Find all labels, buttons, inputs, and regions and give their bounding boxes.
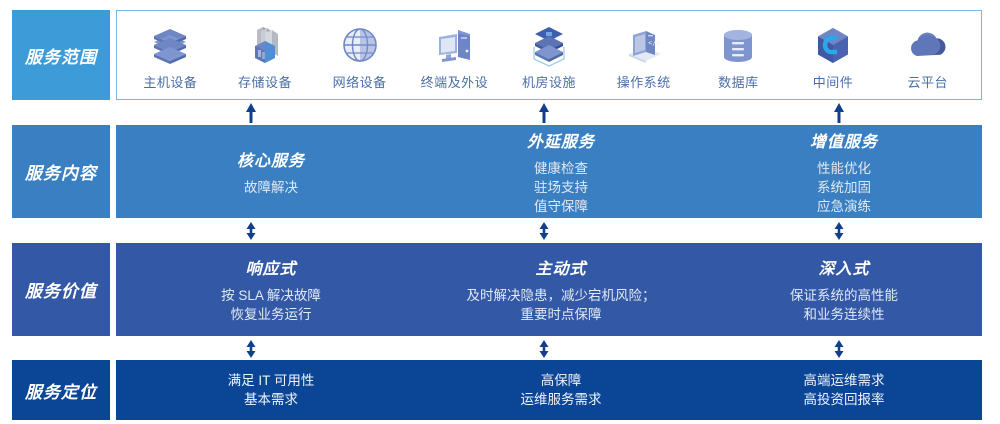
scope-item-database[interactable]: 数据库 [691, 11, 786, 99]
scope-icon-grid: 主机设备 [117, 11, 981, 99]
content-panel: 核心服务 故障解决 外延服务 健康检查 驻场支持 值守保障 增值服务 性能优化 … [116, 125, 982, 218]
position-basic-lines: 满足 IT 可用性 基本需求 [228, 371, 315, 409]
scope-item-datacenter-label: 机房设施 [522, 72, 576, 91]
service-capability-diagram: 服务范围 [0, 0, 1000, 424]
position-assurance-lines: 高保障 运维服务需求 [521, 371, 602, 409]
connector-content-to-value-2 [536, 222, 552, 240]
cloud-platform-icon [905, 23, 951, 69]
position-column-basic[interactable]: 满足 IT 可用性 基本需求 [126, 360, 416, 420]
desktop-terminal-icon [432, 23, 476, 69]
svg-text:</>: </> [648, 39, 661, 47]
row-label-position-text: 服务定位 [25, 378, 97, 403]
scope-item-datacenter[interactable]: 机房设施 [502, 11, 597, 99]
content-extended-lines: 健康检查 驻场支持 值守保障 [534, 159, 588, 216]
row-label-value: 服务价值 [12, 243, 110, 336]
value-indepth-line-2: 和业务连续性 [790, 305, 898, 324]
connector-scope-to-content-1 [243, 103, 259, 123]
position-column-highend[interactable]: 高端运维需求 高投资回报率 [706, 360, 982, 420]
scope-item-os-label: 操作系统 [617, 72, 671, 91]
value-column-indepth[interactable]: 深入式 保证系统的高性能 和业务连续性 [706, 243, 982, 336]
value-column-grid: 响应式 按 SLA 解决故障 恢复业务运行 主动式 及时解决隐患，减少宕机风险；… [116, 243, 982, 336]
content-column-core[interactable]: 核心服务 故障解决 [126, 125, 416, 218]
connector-value-to-position-2 [536, 340, 552, 358]
position-basic-line-2: 基本需求 [228, 390, 315, 409]
content-valueadd-title: 增值服务 [810, 128, 878, 152]
value-indepth-line-1: 保证系统的高性能 [790, 286, 898, 305]
content-core-line-1: 故障解决 [244, 178, 298, 197]
value-indepth-title: 深入式 [818, 255, 869, 279]
middleware-cube-icon [811, 23, 855, 69]
content-extended-title: 外延服务 [527, 128, 595, 152]
connector-scope-to-content-3 [831, 103, 847, 123]
scope-item-storage[interactable]: 存储设备 [218, 11, 313, 99]
position-highend-line-1: 高端运维需求 [804, 371, 885, 390]
row-label-content: 服务内容 [12, 125, 110, 218]
value-column-responsive[interactable]: 响应式 按 SLA 解决故障 恢复业务运行 [126, 243, 416, 336]
scope-item-network-label: 网络设备 [333, 72, 387, 91]
value-proactive-line-2: 重要时点保障 [467, 305, 656, 324]
data-center-facility-icon [526, 23, 572, 69]
database-icon [716, 23, 760, 69]
connector-value-to-position-3 [831, 340, 847, 358]
row-label-scope-text: 服务范围 [25, 43, 97, 68]
scope-item-cloud[interactable]: 云平台 [880, 11, 975, 99]
content-valueadd-line-3: 应急演练 [817, 197, 871, 216]
content-valueadd-line-1: 性能优化 [817, 159, 871, 178]
globe-network-icon [338, 23, 382, 69]
content-core-title: 核心服务 [237, 147, 305, 171]
scope-item-network[interactable]: 网络设备 [312, 11, 407, 99]
scope-panel: 主机设备 [116, 10, 982, 100]
content-column-extended[interactable]: 外延服务 健康检查 驻场支持 值守保障 [416, 125, 706, 218]
scope-item-storage-label: 存储设备 [238, 72, 292, 91]
value-responsive-title: 响应式 [245, 255, 296, 279]
value-responsive-line-2: 恢复业务运行 [221, 305, 321, 324]
content-valueadd-line-2: 系统加固 [817, 178, 871, 197]
scope-item-terminal[interactable]: 终端及外设 [407, 11, 502, 99]
content-column-grid: 核心服务 故障解决 外延服务 健康检查 驻场支持 值守保障 增值服务 性能优化 … [116, 125, 982, 218]
content-column-valueadd[interactable]: 增值服务 性能优化 系统加固 应急演练 [706, 125, 982, 218]
value-proactive-line-1: 及时解决隐患，减少宕机风险； [467, 286, 656, 305]
connector-value-to-position-1 [243, 340, 259, 358]
row-label-scope: 服务范围 [12, 10, 110, 100]
scope-item-middleware-label: 中间件 [813, 72, 854, 91]
position-assurance-line-1: 高保障 [521, 371, 602, 390]
scope-item-cloud-label: 云平台 [907, 72, 948, 91]
row-label-content-text: 服务内容 [25, 159, 97, 184]
content-core-lines: 故障解决 [244, 178, 298, 197]
content-extended-line-2: 驻场支持 [534, 178, 588, 197]
content-valueadd-lines: 性能优化 系统加固 应急演练 [817, 159, 871, 216]
connector-content-to-value-3 [831, 222, 847, 240]
row-label-value-text: 服务价值 [25, 277, 97, 302]
value-proactive-lines: 及时解决隐患，减少宕机风险； 重要时点保障 [467, 286, 656, 324]
value-indepth-lines: 保证系统的高性能 和业务连续性 [790, 286, 898, 324]
scope-item-os[interactable]: </> 操作系统 [596, 11, 691, 99]
position-highend-lines: 高端运维需求 高投资回报率 [804, 371, 885, 409]
value-panel: 响应式 按 SLA 解决故障 恢复业务运行 主动式 及时解决隐患，减少宕机风险；… [116, 243, 982, 336]
position-basic-line-1: 满足 IT 可用性 [228, 371, 315, 390]
row-label-position: 服务定位 [12, 360, 110, 420]
position-column-assurance[interactable]: 高保障 运维服务需求 [416, 360, 706, 420]
position-assurance-line-2: 运维服务需求 [521, 390, 602, 409]
content-extended-line-1: 健康检查 [534, 159, 588, 178]
scope-item-host-label: 主机设备 [143, 72, 197, 91]
scope-item-host[interactable]: 主机设备 [123, 11, 218, 99]
connector-content-to-value-1 [243, 222, 259, 240]
scope-item-middleware[interactable]: 中间件 [786, 11, 881, 99]
content-extended-line-3: 值守保障 [534, 197, 588, 216]
value-responsive-lines: 按 SLA 解决故障 恢复业务运行 [221, 286, 321, 324]
scope-item-database-label: 数据库 [718, 72, 759, 91]
value-proactive-title: 主动式 [535, 255, 586, 279]
position-column-grid: 满足 IT 可用性 基本需求 高保障 运维服务需求 高端运维需求 高投资回报率 [116, 360, 982, 420]
server-stack-icon [148, 23, 192, 69]
connector-scope-to-content-2 [536, 103, 552, 123]
storage-array-icon [243, 23, 287, 69]
value-responsive-line-1: 按 SLA 解决故障 [221, 286, 321, 305]
value-column-proactive[interactable]: 主动式 及时解决隐患，减少宕机风险； 重要时点保障 [416, 243, 706, 336]
position-highend-line-2: 高投资回报率 [804, 390, 885, 409]
position-panel: 满足 IT 可用性 基本需求 高保障 运维服务需求 高端运维需求 高投资回报率 [116, 360, 982, 420]
scope-item-terminal-label: 终端及外设 [421, 72, 489, 91]
operating-system-icon: </> [621, 23, 667, 69]
